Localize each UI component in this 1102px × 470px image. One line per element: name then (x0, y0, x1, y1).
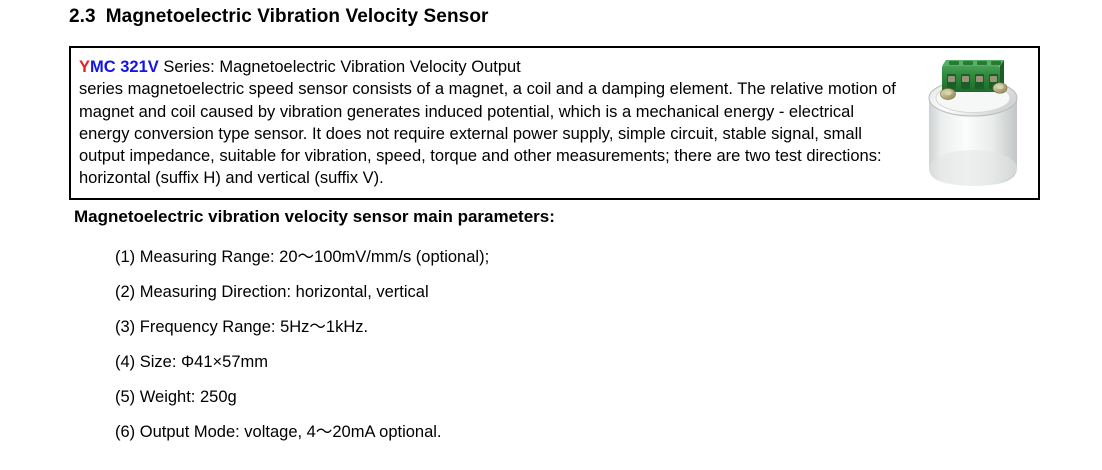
section-title-text: Magnetoelectric Vibration Velocity Senso… (106, 6, 489, 27)
parameters-heading: Magnetoelectric vibration velocity senso… (74, 207, 555, 227)
list-item: (3) Frequency Range: 5Hz～1kHz. (115, 310, 975, 345)
list-item: (1) Measuring Range: 20～100mV/mm/s (opti… (115, 240, 975, 275)
parameters-list: (1) Measuring Range: 20～100mV/mm/s (opti… (115, 240, 975, 450)
brand-model: MC 321V (90, 58, 159, 76)
list-item: (2) Measuring Direction: horizontal, ver… (115, 275, 975, 310)
brand-initial: Y (79, 58, 90, 76)
list-item: (6) Output Mode: voltage, 4～20mA optiona… (115, 415, 975, 450)
page-title: 2.3Magnetoelectric Vibration Velocity Se… (69, 6, 489, 28)
section-number: 2.3 (69, 6, 96, 27)
product-image-cell (906, 48, 1038, 198)
list-item: (4) Size: Φ41×57mm (115, 345, 975, 380)
description-text-cell: YMC 321V Series: Magnetoelectric Vibrati… (71, 48, 906, 198)
sensor-photo-icon (912, 50, 1034, 198)
headline-remainder: Series: Magnetoelectric Vibration Veloci… (159, 58, 521, 76)
list-item: (5) Weight: 250g (115, 380, 975, 415)
product-description-box: YMC 321V Series: Magnetoelectric Vibrati… (69, 46, 1040, 200)
description-body-text: series magnetoelectric speed sensor cons… (79, 80, 896, 187)
description-paragraph: YMC 321V Series: Magnetoelectric Vibrati… (79, 56, 900, 190)
